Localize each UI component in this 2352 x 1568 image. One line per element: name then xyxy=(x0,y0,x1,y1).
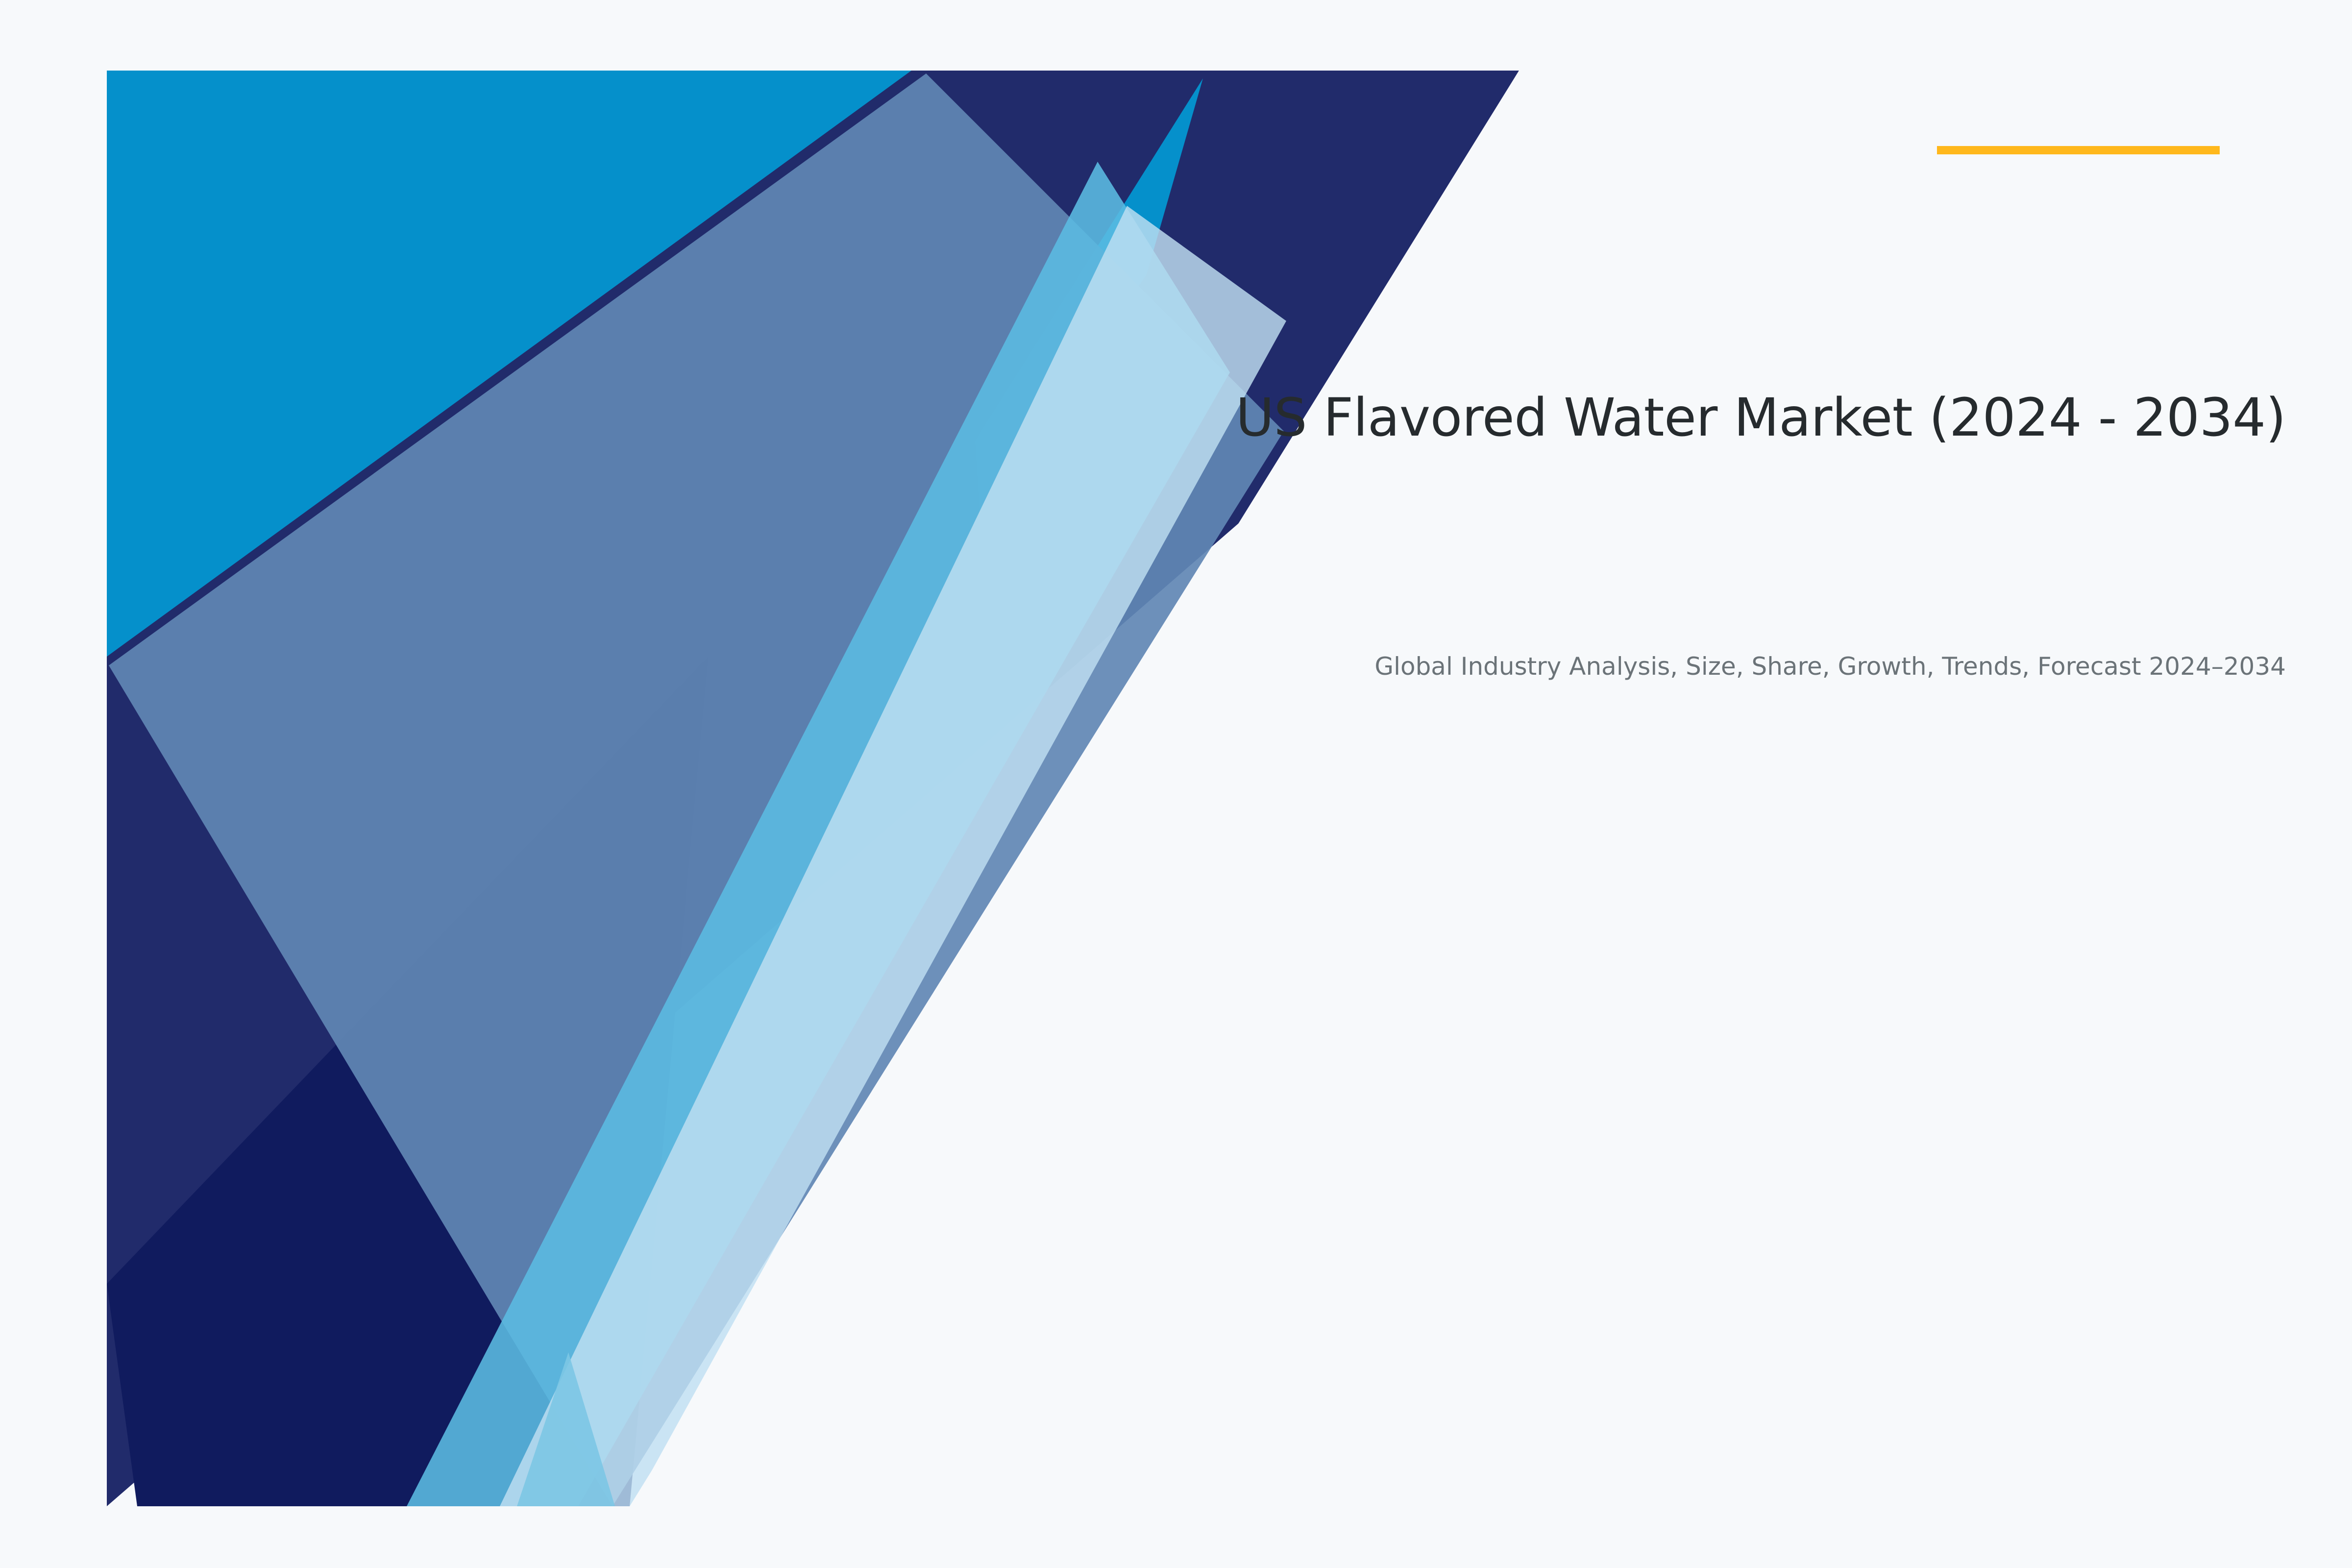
shape-deep-navy-lower xyxy=(107,657,708,1506)
shape-cyan-base xyxy=(107,71,921,1029)
shape-bottom-cyan-accent xyxy=(517,1352,615,1506)
title-underline-accent xyxy=(1937,146,2220,154)
page-title: US Flavored Water Market (2024 - 2034) xyxy=(992,387,2286,449)
artwork-svg xyxy=(0,0,2352,1568)
page-subtitle: Global Industry Analysis, Size, Share, G… xyxy=(1355,651,2286,682)
title-block: US Flavored Water Market (2024 - 2034) xyxy=(992,387,2286,449)
shape-cyan-spike xyxy=(975,78,1203,519)
title-slide: US Flavored Water Market (2024 - 2034) G… xyxy=(0,0,2352,1568)
decorative-artwork xyxy=(0,0,2352,1568)
shape-slate-overlay xyxy=(109,73,1284,1506)
shape-navy-wedge xyxy=(107,71,1519,1506)
shape-light-cyan-band xyxy=(407,162,1230,1506)
title-underline-wrap: US Flavored Water Market (2024 - 2034) xyxy=(992,387,2286,449)
